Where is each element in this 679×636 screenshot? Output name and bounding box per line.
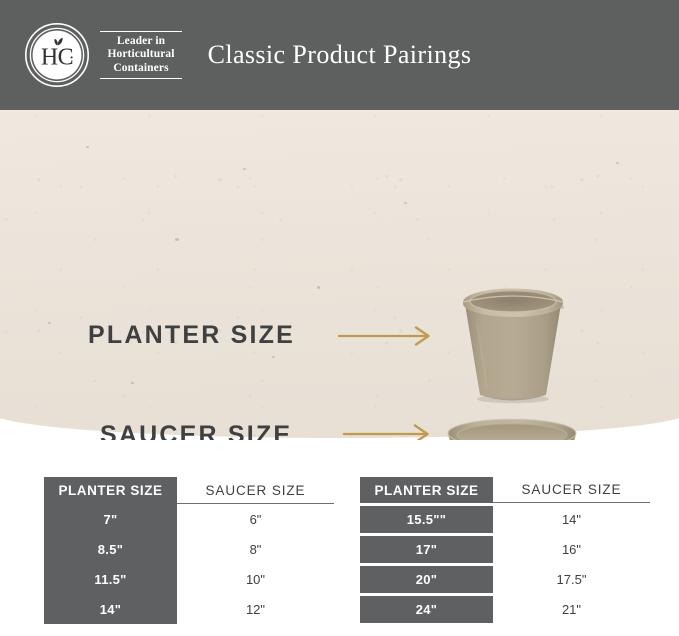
cell-planter-size: 15.5"" bbox=[360, 506, 493, 533]
column-header-saucer: SAUCER SIZE bbox=[493, 477, 650, 503]
table-row: 7" 6" bbox=[44, 504, 334, 534]
table-row: 14" 12" bbox=[44, 594, 334, 624]
cell-saucer-size: 6" bbox=[177, 504, 334, 534]
cell-saucer-size: 12" bbox=[177, 594, 334, 624]
hero-photo-panel: PLANTER SIZE SAUCER SIZE bbox=[0, 110, 679, 440]
table-row: 24" 21" bbox=[360, 596, 650, 623]
cell-planter-size: 20" bbox=[360, 566, 493, 593]
planter-arrow-icon bbox=[338, 325, 436, 347]
cell-saucer-size: 21" bbox=[493, 596, 650, 623]
table-row: 20" 17.5" bbox=[360, 566, 650, 593]
cell-planter-size: 11.5" bbox=[44, 564, 177, 594]
saucer-size-label: SAUCER SIZE bbox=[100, 421, 292, 440]
table-row: 17" 16" bbox=[360, 536, 650, 563]
column-header-planter: PLANTER SIZE bbox=[360, 477, 493, 503]
saucer-arrow-icon bbox=[343, 423, 435, 440]
texture-speck bbox=[86, 146, 89, 148]
brand-tagline: Leader in Horticultural Containers bbox=[100, 29, 182, 82]
texture-speck bbox=[243, 168, 246, 170]
product-pairings-infographic: HC Leader in Horticultural Containers Cl… bbox=[0, 0, 679, 636]
texture-speck bbox=[131, 382, 134, 384]
column-header-saucer: SAUCER SIZE bbox=[177, 477, 334, 504]
tagline-line-2: Horticultural bbox=[102, 48, 180, 62]
cell-saucer-size: 8" bbox=[177, 534, 334, 564]
cell-planter-size: 17" bbox=[360, 536, 493, 563]
cell-saucer-size: 16" bbox=[493, 536, 650, 563]
cell-saucer-size: 17.5" bbox=[493, 566, 650, 593]
saucer-dish-image bbox=[438, 415, 586, 440]
planter-size-label: PLANTER SIZE bbox=[88, 321, 295, 350]
tagline-line-3: Containers bbox=[102, 62, 180, 76]
texture-speck bbox=[272, 356, 275, 358]
hc-monogram-icon: HC bbox=[24, 22, 90, 88]
tagline-rule-bottom bbox=[100, 78, 182, 79]
texture-speck bbox=[404, 202, 407, 204]
table-header-row: PLANTER SIZE SAUCER SIZE bbox=[44, 477, 334, 504]
pairing-table-left: PLANTER SIZE SAUCER SIZE 7" 6" 8.5" 8" 1… bbox=[44, 477, 334, 624]
svg-text:HC: HC bbox=[41, 45, 73, 71]
texture-speck bbox=[48, 322, 51, 324]
cell-planter-size: 24" bbox=[360, 596, 493, 623]
header-bar: HC Leader in Horticultural Containers Cl… bbox=[0, 0, 679, 110]
texture-speck bbox=[317, 286, 320, 289]
pairing-table-right: PLANTER SIZE SAUCER SIZE 15.5"" 14" 17" … bbox=[360, 477, 650, 626]
planter-pot-image bbox=[447, 282, 579, 404]
texture-speck bbox=[616, 162, 619, 164]
tagline-line-1: Leader in bbox=[102, 35, 180, 49]
brand-logo[interactable]: HC Leader in Horticultural Containers bbox=[24, 22, 182, 88]
cell-planter-size: 14" bbox=[44, 594, 177, 624]
table-header-row: PLANTER SIZE SAUCER SIZE bbox=[360, 477, 650, 503]
table-row: 15.5"" 14" bbox=[360, 506, 650, 533]
cell-saucer-size: 10" bbox=[177, 564, 334, 594]
size-pairing-tables: PLANTER SIZE SAUCER SIZE 7" 6" 8.5" 8" 1… bbox=[0, 440, 679, 636]
cell-planter-size: 8.5" bbox=[44, 534, 177, 564]
table-row: 11.5" 10" bbox=[44, 564, 334, 594]
table-row: 8.5" 8" bbox=[44, 534, 334, 564]
texture-speck bbox=[175, 238, 179, 241]
column-header-planter: PLANTER SIZE bbox=[44, 477, 177, 504]
cell-planter-size: 7" bbox=[44, 504, 177, 534]
cell-saucer-size: 14" bbox=[493, 506, 650, 533]
